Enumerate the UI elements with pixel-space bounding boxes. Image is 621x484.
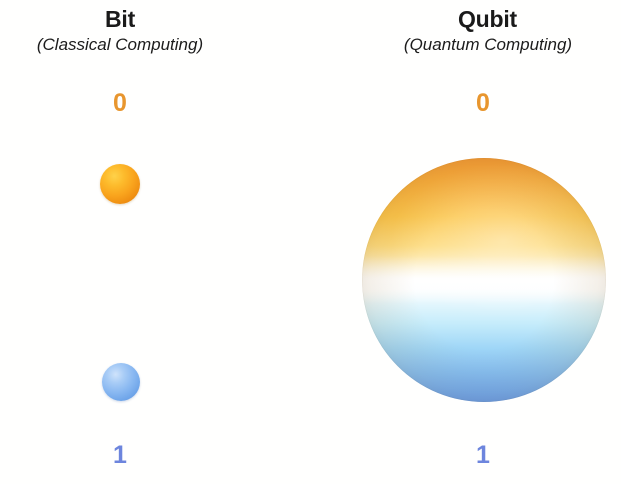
bit-column-title: Bit (20, 6, 220, 32)
qubit-column-subtitle: (Quantum Computing) (368, 34, 608, 55)
bit-column-subtitle: (Classical Computing) (10, 34, 230, 55)
blue-bit-sphere (102, 363, 140, 401)
qubit-state-one-label: 1 (433, 441, 533, 469)
qubit-state-zero-label: 0 (433, 89, 533, 117)
sphere-rim (362, 158, 606, 402)
bit-state-zero-label: 0 (70, 89, 170, 117)
qubit-superposition-sphere (362, 158, 606, 402)
qubit-column-title: Qubit (380, 6, 595, 32)
bit-state-one-label: 1 (70, 441, 170, 469)
orange-bit-sphere (100, 164, 140, 204)
quantum-bit-comparison-figure: Bit (Classical Computing) 0 1 Qubit (Qua… (0, 0, 621, 484)
